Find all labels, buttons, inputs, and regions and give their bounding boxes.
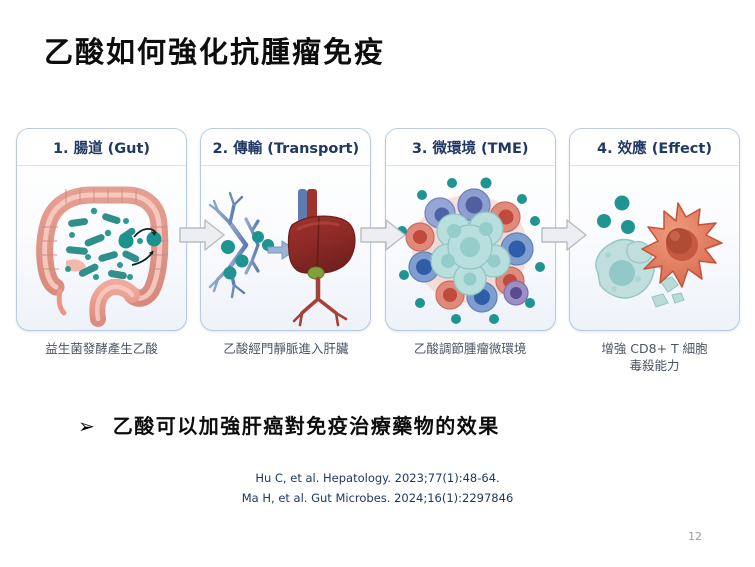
- tumor-microenvironment-icon: [390, 169, 550, 329]
- card-effect-header: 4. 效應 (Effect): [570, 129, 739, 166]
- intestine-icon: [22, 169, 182, 329]
- arrow-tme-to-effect: [541, 218, 587, 252]
- caption-tme: 乙酸調節腫瘤微環境: [385, 340, 556, 374]
- slide-canvas: 乙酸如何強化抗腫瘤免疫 1. 腸道 (Gut): [0, 0, 755, 567]
- caption-effect-line2: 毒殺能力: [569, 357, 740, 374]
- reference-item: Ma H, et al. Gut Microbes. 2024;16(1):22…: [0, 488, 755, 508]
- key-message-row: ➢ 乙酸可以加強肝癌對免疫治療藥物的效果: [78, 410, 500, 439]
- arrow-transport-to-tme: [360, 218, 406, 252]
- portal-vein-liver-icon: [206, 169, 366, 329]
- card-gut-header: 1. 腸道 (Gut): [17, 129, 186, 166]
- card-tme[interactable]: 3. 微環境 (TME): [385, 128, 556, 331]
- card-effect-header-label: 4. 效應 (Effect): [597, 137, 712, 158]
- reference-item: Hu C, et al. Hepatology. 2023;77(1):48-6…: [0, 468, 755, 488]
- caption-row: 益生菌發酵產生乙酸 乙酸經門靜脈進入肝臟 乙酸調節腫瘤微環境 增強 CD8+ T…: [16, 340, 740, 374]
- caption-gut: 益生菌發酵產生乙酸: [16, 340, 187, 374]
- caption-effect-line1: 增強 CD8+ T 細胞: [569, 340, 740, 357]
- card-tme-illustration: [386, 166, 555, 331]
- card-transport-header-label: 2. 傳輸 (Transport): [213, 137, 360, 158]
- t-cell-killing-tumor-icon: [574, 169, 734, 329]
- card-gut-illustration: [17, 166, 186, 331]
- page-number: 12: [688, 530, 702, 543]
- page-title: 乙酸如何強化抗腫瘤免疫: [44, 29, 385, 71]
- card-effect[interactable]: 4. 效應 (Effect): [569, 128, 740, 331]
- card-transport-header: 2. 傳輸 (Transport): [201, 129, 370, 166]
- card-gut[interactable]: 1. 腸道 (Gut): [16, 128, 187, 331]
- card-tme-header-label: 3. 微環境 (TME): [412, 137, 529, 158]
- card-tme-header: 3. 微環境 (TME): [386, 129, 555, 166]
- reference-list: Hu C, et al. Hepatology. 2023;77(1):48-6…: [0, 468, 755, 508]
- card-transport[interactable]: 2. 傳輸 (Transport): [200, 128, 371, 331]
- key-message-text: 乙酸可以加強肝癌對免疫治療藥物的效果: [113, 410, 500, 439]
- card-effect-illustration: [570, 166, 739, 331]
- caption-effect: 增強 CD8+ T 細胞 毒殺能力: [569, 340, 740, 374]
- card-transport-illustration: [201, 166, 370, 331]
- arrow-gut-to-transport: [179, 218, 225, 252]
- bullet-arrow-icon: ➢: [78, 416, 95, 436]
- card-gut-header-label: 1. 腸道 (Gut): [53, 137, 150, 158]
- caption-transport: 乙酸經門靜脈進入肝臟: [200, 340, 371, 374]
